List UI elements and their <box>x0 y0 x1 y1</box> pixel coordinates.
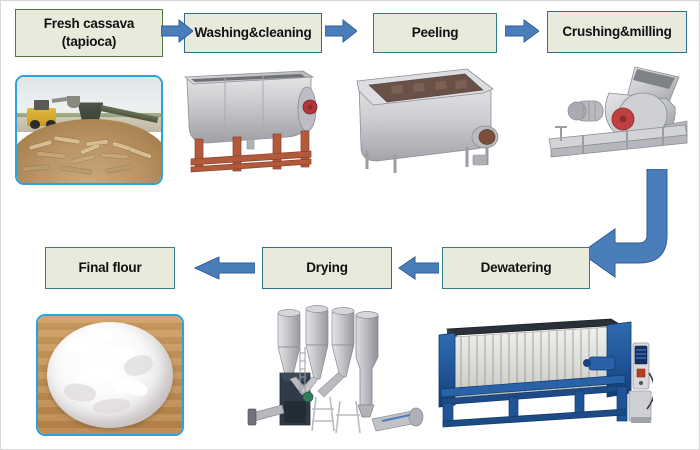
flour-photo <box>36 314 184 436</box>
cassava-photo <box>15 75 163 185</box>
step-box-final-flour[interactable]: Final flour <box>45 247 175 289</box>
step-label-line: Crushing&milling <box>562 23 671 41</box>
step-label-line: Drying <box>306 259 348 277</box>
cassava-photo-image <box>17 77 161 183</box>
step-label-line: Final flour <box>78 259 141 277</box>
step-box-washing-cleaning[interactable]: Washing&cleaning <box>184 13 322 53</box>
step-label-line: Fresh cassava <box>44 15 134 33</box>
step-label-line: (tapioca) <box>62 33 116 51</box>
peeling-machine <box>351 63 505 181</box>
arrow-washing-to-peeling <box>325 19 357 43</box>
step-label-line: Dewatering <box>481 259 552 277</box>
step-box-drying[interactable]: Drying <box>262 247 392 289</box>
arrow-drying-to-final-flour <box>193 256 255 280</box>
arrow-peeling-to-crushing <box>505 19 539 43</box>
process-flow-diagram: Fresh cassava (tapioca) Washing&cleaning… <box>0 0 700 450</box>
arrow-dewatering-to-drying <box>397 256 439 280</box>
step-label-line: Washing&cleaning <box>194 24 311 42</box>
arrow-fresh-cassava-to-washing <box>161 19 193 43</box>
step-box-crushing-milling[interactable]: Crushing&milling <box>547 11 687 53</box>
washing-machine <box>177 63 325 181</box>
crusher-machine <box>539 63 691 173</box>
step-box-dewatering[interactable]: Dewatering <box>442 247 590 289</box>
step-box-peeling[interactable]: Peeling <box>373 13 497 53</box>
flour-photo-image <box>38 316 182 434</box>
step-label-line: Peeling <box>412 24 459 42</box>
step-box-fresh-cassava[interactable]: Fresh cassava (tapioca) <box>15 9 163 57</box>
filter-press-machine <box>425 313 653 441</box>
flash-dryer-machine <box>244 301 434 443</box>
